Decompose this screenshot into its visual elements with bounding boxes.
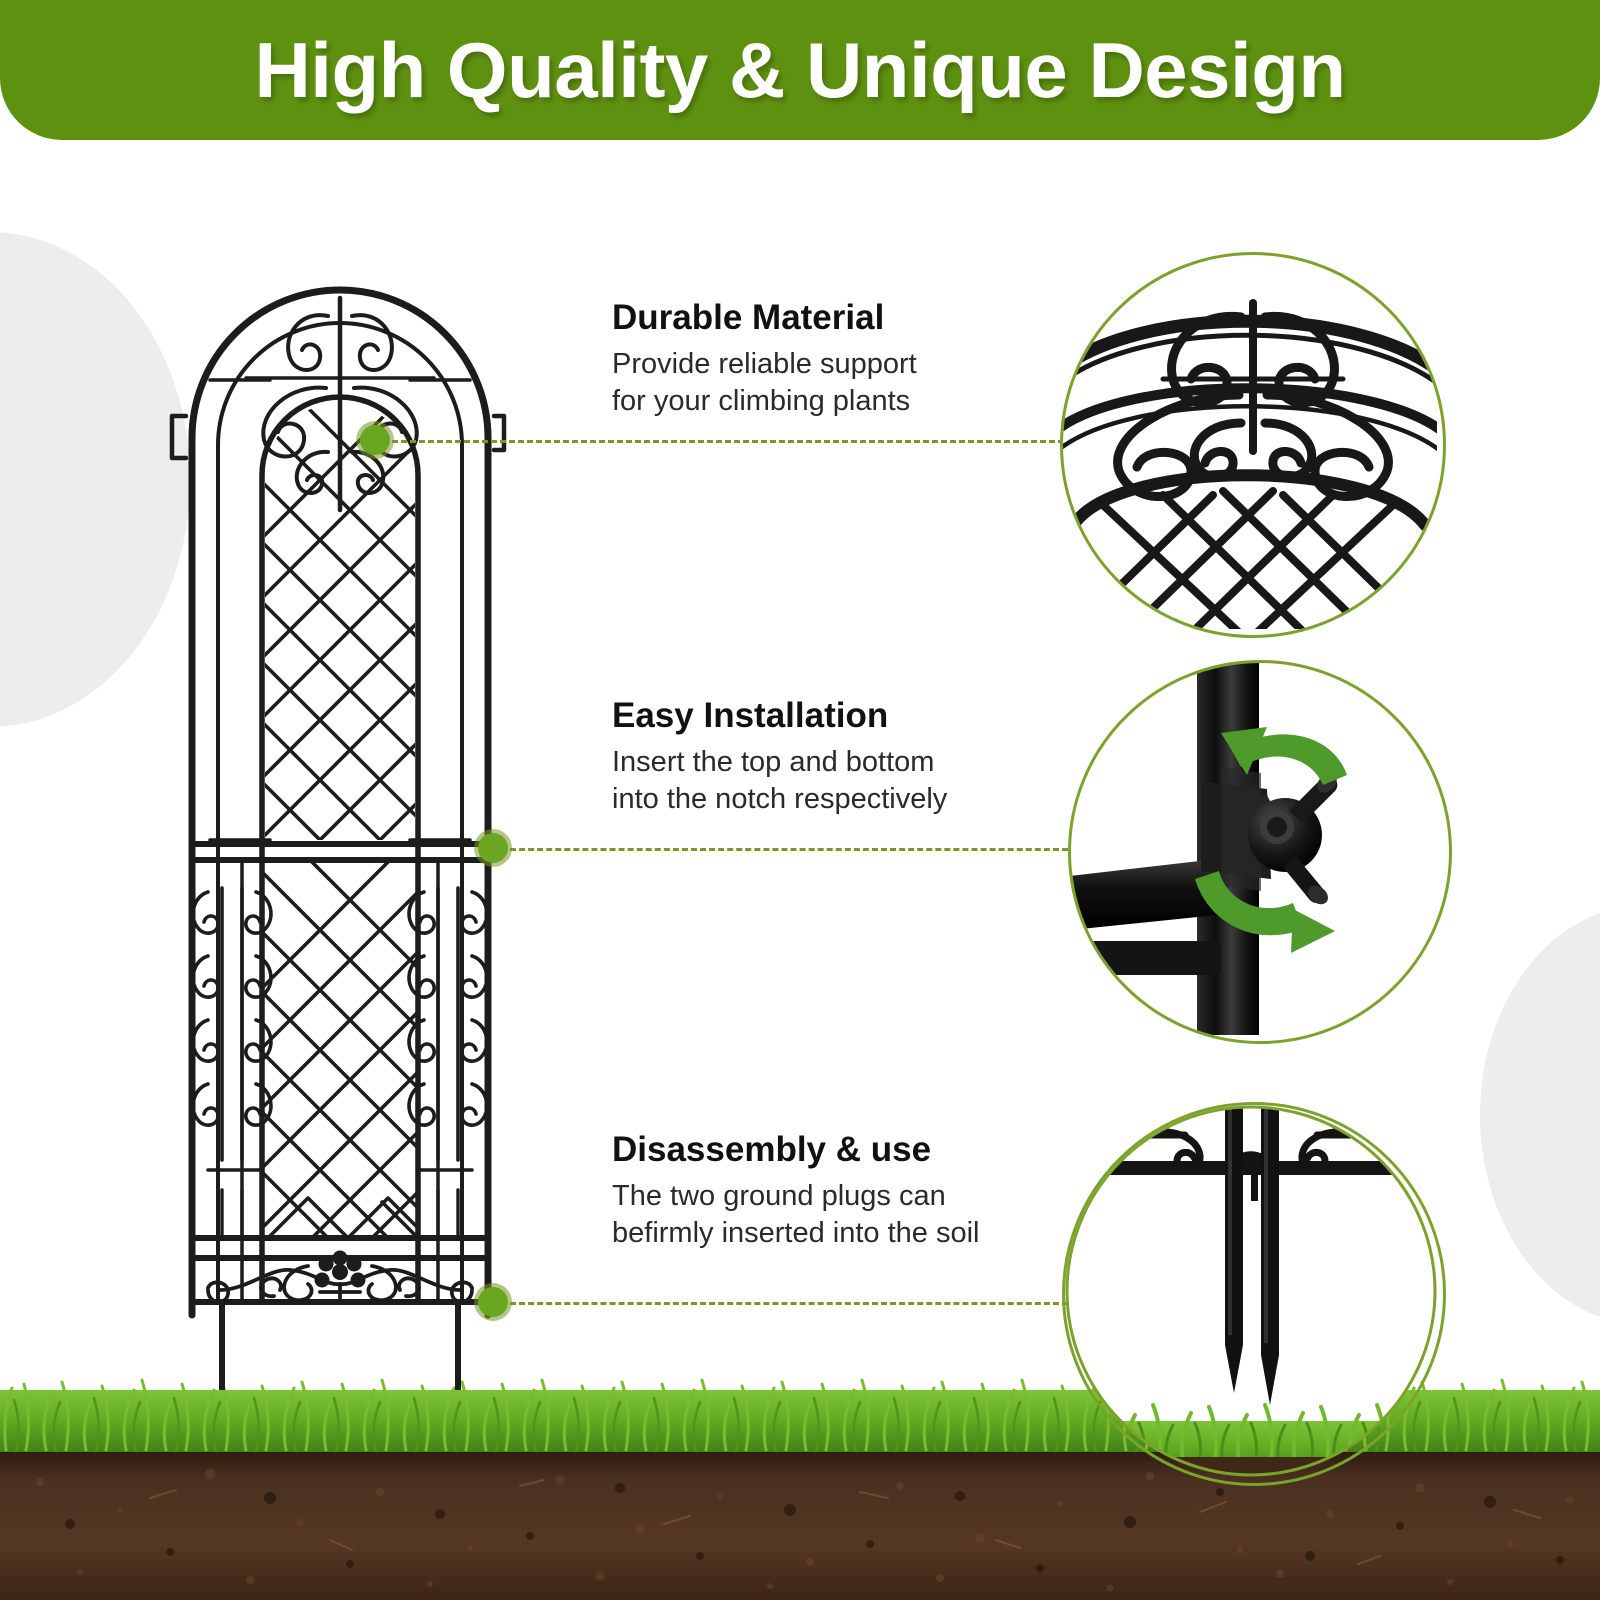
callout-connector-2 (510, 848, 1068, 851)
product-trellis-illustration (150, 240, 530, 1395)
feature-title-1: Durable Material (612, 300, 1032, 337)
detail-photo-ground-stakes (1062, 1102, 1446, 1486)
feature-block-durable-material: Durable Material Provide reliable suppor… (612, 300, 1032, 420)
feature-title-2: Easy Installation (612, 698, 1032, 735)
feature-block-disassembly-use: Disassembly & use The two ground plugs c… (612, 1132, 1032, 1252)
callout-marker-dot-2 (478, 833, 508, 863)
feature-line-3a: The two ground plugs can (612, 1178, 1032, 1215)
feature-line-1a: Provide reliable support (612, 346, 1032, 383)
feature-line-3b: befirmly inserted into the soil (612, 1215, 1032, 1252)
feature-block-easy-installation: Easy Installation Insert the top and bot… (612, 698, 1032, 818)
feature-line-2b: into the notch respectively (612, 781, 1032, 818)
callout-connector-1 (392, 440, 1064, 443)
callout-marker-dot-1 (360, 425, 390, 455)
header-banner: High Quality & Unique Design (0, 0, 1600, 140)
background-decor-circle-right (1480, 905, 1600, 1325)
feature-title-3: Disassembly & use (612, 1132, 1032, 1169)
callout-marker-dot-3 (478, 1287, 508, 1317)
feature-line-1b: for your climbing plants (612, 383, 1032, 420)
callout-connector-3 (510, 1302, 1068, 1305)
soil-cross-section (0, 1452, 1600, 1600)
infographic-canvas: High Quality & Unique Design (0, 0, 1600, 1600)
feature-line-2a: Insert the top and bottom (612, 744, 1032, 781)
page-title: High Quality & Unique Design (0, 0, 1600, 140)
detail-photo-arch-scrollwork (1060, 252, 1446, 638)
detail-photo-tube-joint-knob (1068, 660, 1452, 1044)
